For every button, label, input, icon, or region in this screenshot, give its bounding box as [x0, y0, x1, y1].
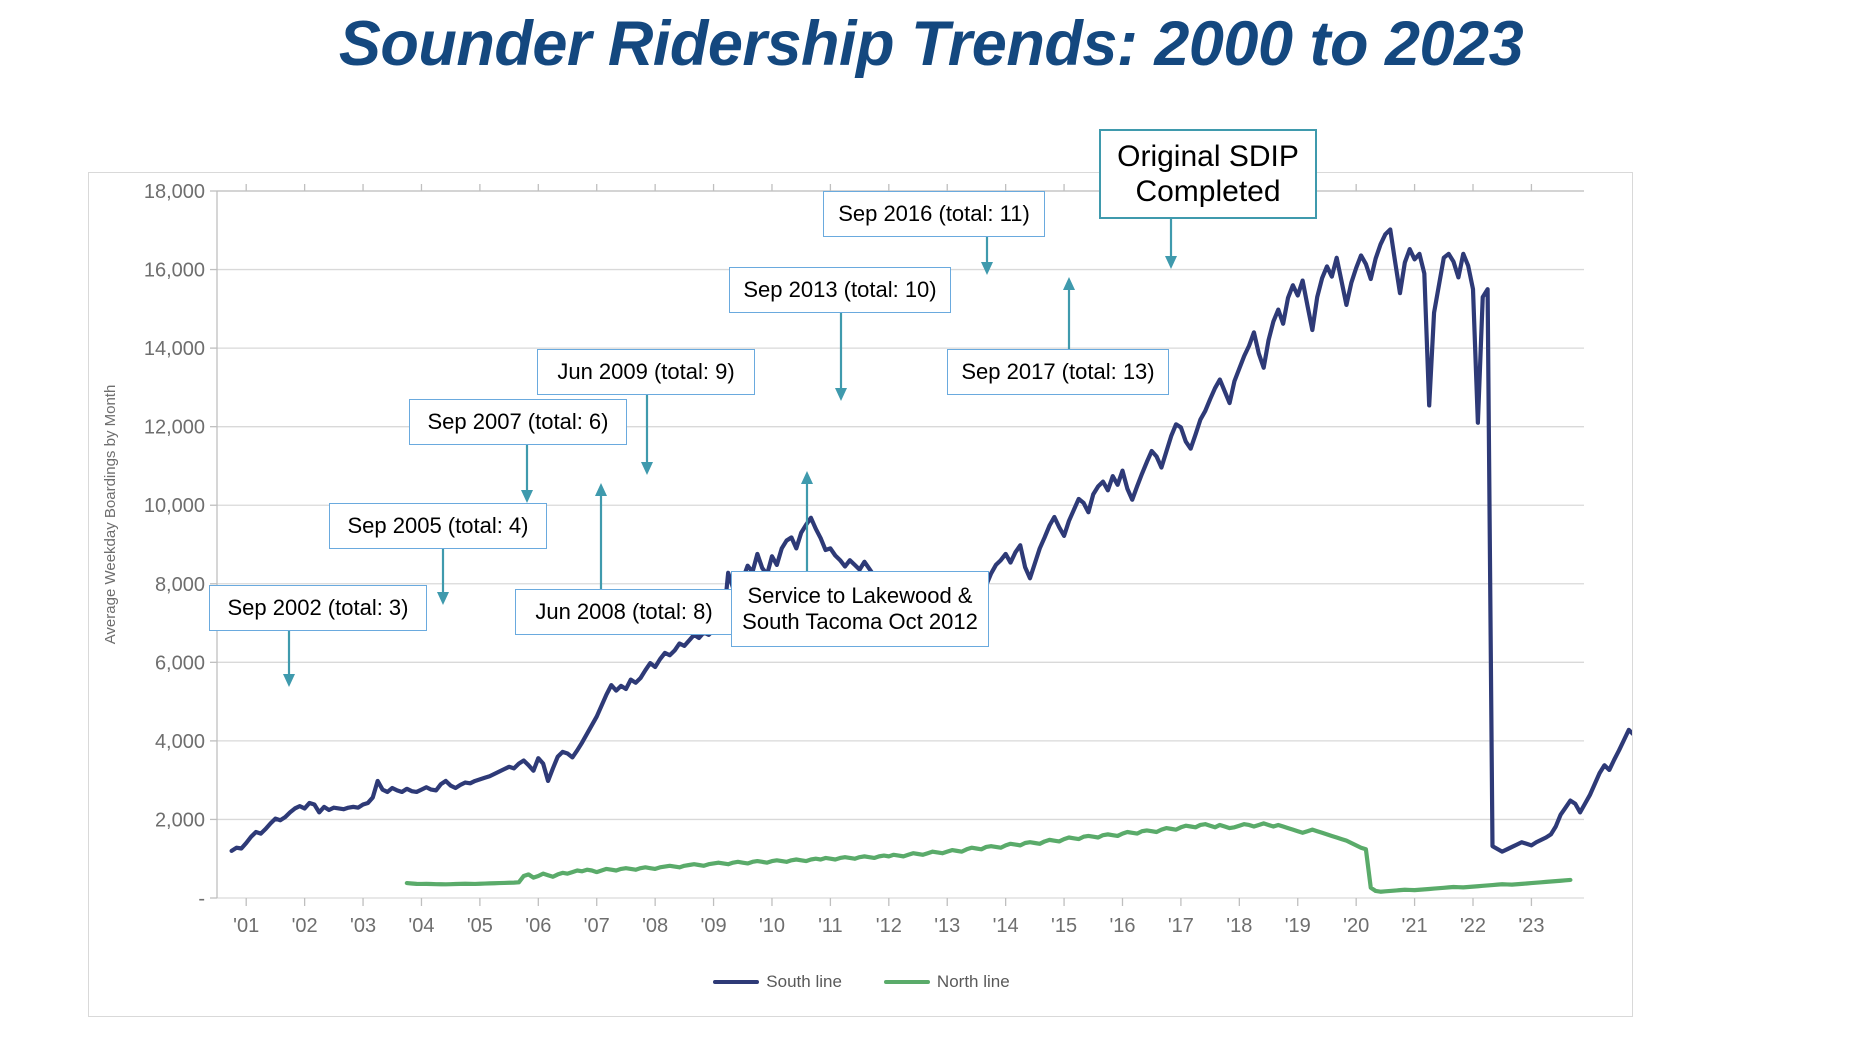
legend-swatch-icon — [713, 980, 759, 984]
svg-text:'17: '17 — [1168, 915, 1194, 937]
annotation-callout-sep-2007: Sep 2007 (total: 6) — [409, 399, 627, 445]
annotation-text: Original SDIP Completed — [1117, 139, 1299, 210]
annotation-text: Sep 2017 (total: 13) — [961, 359, 1154, 385]
svg-text:4,000: 4,000 — [155, 731, 205, 753]
annotation-callout-sep-2017: Sep 2017 (total: 13) — [947, 349, 1169, 395]
annotation-arrow — [1160, 217, 1182, 271]
annotation-callout-jun-2008: Jun 2008 (total: 8) — [515, 589, 733, 635]
svg-text:6,000: 6,000 — [155, 652, 205, 674]
annotation-callout-lakewood: Service to Lakewood & South Tacoma Oct 2… — [731, 571, 989, 647]
legend-label: South line — [766, 972, 842, 992]
annotation-arrow — [516, 443, 538, 505]
annotation-arrow — [278, 629, 300, 689]
annotation-callout-sep-2005: Sep 2005 (total: 4) — [329, 503, 547, 549]
annotation-arrow — [636, 393, 658, 477]
svg-text:10,000: 10,000 — [144, 495, 205, 517]
svg-text:'01: '01 — [233, 915, 259, 937]
annotation-arrow — [590, 481, 612, 591]
annotation-arrow — [830, 311, 852, 403]
annotation-callout-jun-2009: Jun 2009 (total: 9) — [537, 349, 755, 395]
annotation-callout-sep-2002: Sep 2002 (total: 3) — [209, 585, 427, 631]
svg-text:'03: '03 — [350, 915, 376, 937]
svg-text:'07: '07 — [584, 915, 610, 937]
legend-item-north-line[interactable]: North line — [884, 972, 1010, 992]
annotation-arrow — [432, 547, 454, 607]
chart-legend: South lineNorth line — [89, 972, 1634, 992]
svg-text:'15: '15 — [1051, 915, 1077, 937]
svg-text:'16: '16 — [1109, 915, 1135, 937]
svg-text:'05: '05 — [467, 915, 493, 937]
legend-item-south-line[interactable]: South line — [713, 972, 842, 992]
annotation-arrow — [796, 469, 818, 573]
annotation-callout-sep-2013: Sep 2013 (total: 10) — [729, 267, 951, 313]
svg-text:-: - — [198, 888, 205, 910]
annotation-text: Sep 2016 (total: 11) — [838, 201, 1030, 227]
annotation-text: Sep 2013 (total: 10) — [743, 277, 936, 303]
svg-text:18,000: 18,000 — [144, 181, 205, 203]
legend-label: North line — [937, 972, 1010, 992]
svg-text:'10: '10 — [759, 915, 785, 937]
y-axis-title: Average Weekday Boardings by Month — [102, 385, 119, 645]
legend-swatch-icon — [884, 980, 930, 984]
annotation-text: Sep 2005 (total: 4) — [347, 513, 528, 539]
chart-container: 18,00016,00014,00012,00010,0008,0006,000… — [88, 172, 1633, 1017]
svg-text:14,000: 14,000 — [144, 338, 205, 360]
svg-text:16,000: 16,000 — [144, 260, 205, 282]
svg-text:12,000: 12,000 — [144, 417, 205, 439]
annotation-text: Sep 2002 (total: 3) — [227, 595, 408, 621]
y-axis-ticks: 18,00016,00014,00012,00010,0008,0006,000… — [144, 181, 217, 910]
svg-text:'06: '06 — [525, 915, 551, 937]
page-title: Sounder Ridership Trends: 2000 to 2023 — [0, 8, 1862, 80]
svg-text:'18: '18 — [1226, 915, 1252, 937]
annotation-arrow — [1058, 275, 1080, 351]
svg-text:2,000: 2,000 — [155, 809, 205, 831]
svg-text:'08: '08 — [642, 915, 668, 937]
annotation-callout-sdip: Original SDIP Completed — [1099, 129, 1317, 219]
svg-text:'20: '20 — [1343, 915, 1369, 937]
annotation-text: Sep 2007 (total: 6) — [427, 409, 608, 435]
svg-text:'04: '04 — [408, 915, 434, 937]
annotation-text: Jun 2009 (total: 9) — [557, 359, 734, 385]
svg-text:'12: '12 — [876, 915, 902, 937]
svg-text:'13: '13 — [934, 915, 960, 937]
svg-text:'19: '19 — [1285, 915, 1311, 937]
svg-text:'21: '21 — [1402, 915, 1428, 937]
svg-text:'02: '02 — [292, 915, 318, 937]
svg-text:8,000: 8,000 — [155, 574, 205, 596]
svg-text:'11: '11 — [818, 915, 843, 937]
svg-text:'23: '23 — [1518, 915, 1544, 937]
annotation-text: Service to Lakewood & South Tacoma Oct 2… — [742, 583, 978, 635]
annotation-callout-sep-2016: Sep 2016 (total: 11) — [823, 191, 1045, 237]
svg-text:'09: '09 — [701, 915, 727, 937]
svg-text:'22: '22 — [1460, 915, 1486, 937]
svg-text:Average Weekday Boardings by M: Average Weekday Boardings by Month — [102, 385, 119, 645]
annotation-text: Jun 2008 (total: 8) — [535, 599, 712, 625]
svg-text:'14: '14 — [993, 915, 1019, 937]
annotation-arrow — [976, 235, 998, 277]
